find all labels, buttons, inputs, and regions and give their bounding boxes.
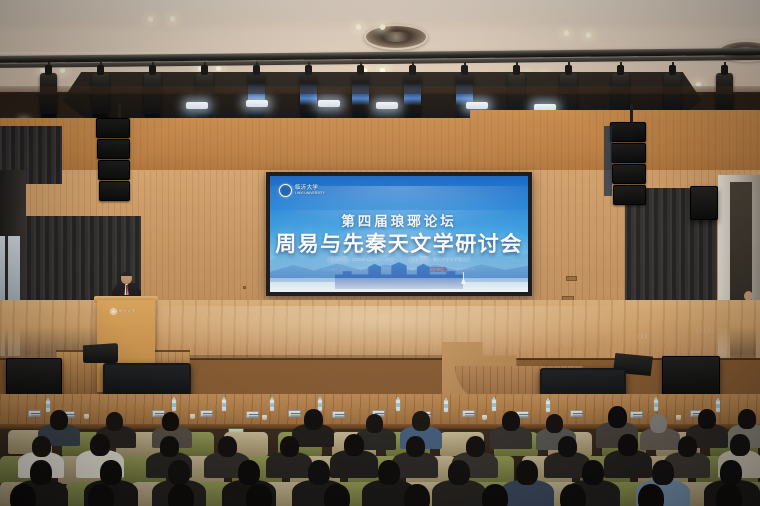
paper-cup	[190, 414, 195, 419]
audience-head	[730, 434, 750, 456]
audience-head	[304, 409, 323, 430]
stage-light-icon	[352, 73, 369, 117]
audience-head	[560, 484, 586, 506]
audience-head	[308, 460, 330, 485]
university-logo-text: 临沂大学 LINYI UNIVERSITY	[295, 185, 325, 195]
line-array-left	[96, 118, 130, 201]
line-array-box	[98, 160, 130, 180]
downlight-icon	[354, 24, 363, 30]
water-bottle	[270, 399, 274, 411]
downlight-icon	[378, 24, 387, 30]
audience-head	[90, 434, 110, 456]
water-bottle	[654, 399, 658, 411]
audience-head	[366, 414, 383, 433]
presenter-head	[121, 272, 132, 284]
name-card	[462, 410, 475, 417]
led-screen-content: 临沂大学 LINYI UNIVERSITY 第四届琅琊论坛 周易与先秦天文学研讨…	[270, 176, 528, 292]
audience-head	[404, 484, 430, 506]
audience-head	[378, 460, 400, 485]
stage-light-icon	[144, 73, 161, 117]
paper-cup	[482, 415, 487, 420]
audience-head	[638, 484, 664, 506]
audience-head	[716, 484, 742, 506]
audience-head	[516, 460, 538, 485]
stage-floor-highlight	[120, 306, 640, 364]
ceiling-vent-icon	[364, 24, 428, 50]
audience-head	[168, 484, 194, 506]
water-bottle	[318, 399, 322, 411]
university-name-en: LINYI UNIVERSITY	[295, 192, 325, 196]
stage-light-icon	[404, 73, 421, 117]
paper-cup	[676, 415, 681, 420]
stage-light-icon	[300, 73, 317, 117]
name-card	[570, 410, 583, 417]
name-card	[630, 411, 643, 418]
audience-head	[30, 460, 52, 485]
downlight-icon	[146, 16, 155, 22]
name-card	[28, 410, 41, 417]
audience-head	[698, 409, 716, 429]
audience-head	[280, 436, 299, 457]
audience-head	[618, 434, 638, 456]
stage-light-icon	[248, 73, 265, 117]
audience-head	[218, 436, 237, 457]
audience-head	[546, 414, 563, 433]
audience-area	[0, 394, 760, 506]
audience-head	[652, 460, 674, 485]
lit-lamp-glow	[466, 102, 488, 109]
vent-hub	[383, 32, 410, 42]
audience-head	[50, 410, 68, 430]
audience-head	[100, 460, 122, 485]
audience-head	[678, 436, 697, 457]
audience-head	[502, 411, 520, 431]
water-bottle	[172, 399, 176, 411]
auditorium-photo: 临沂大学 LINYI UNIVERSITY 第四届琅琊论坛 周易与先秦天文学研讨…	[0, 0, 760, 506]
line-array-box	[99, 181, 130, 201]
stage-light-icon	[92, 73, 109, 117]
podium-emblem: 临沂大学	[110, 308, 136, 315]
lit-lamp-glow	[246, 100, 268, 107]
screen-title-line1: 第四届琅琊论坛	[270, 210, 528, 230]
university-emblem-icon	[279, 184, 292, 197]
water-bottle	[46, 400, 50, 412]
podium-emblem-icon	[110, 308, 117, 315]
audience-head	[246, 484, 272, 506]
audience-head	[168, 460, 190, 485]
audience-head	[344, 434, 364, 456]
wall-marker	[243, 286, 246, 289]
audience-head	[10, 484, 36, 506]
name-card	[200, 410, 213, 417]
line-array-box	[97, 139, 130, 159]
audience-head	[406, 436, 425, 457]
podium-emblem-text: 临沂大学	[119, 309, 136, 314]
water-bottle	[396, 399, 400, 411]
audience-head	[162, 412, 179, 431]
audience-head	[32, 436, 51, 457]
speaker-stack-right-upper	[690, 186, 718, 220]
audience-head	[448, 460, 470, 485]
wall-sign-upper	[566, 276, 577, 281]
paper-cup	[84, 414, 89, 419]
lit-lamp-glow	[318, 100, 340, 107]
downlight-icon	[584, 32, 593, 38]
audience-head	[106, 412, 123, 431]
audience-head	[160, 436, 179, 457]
line-array-box	[611, 143, 646, 163]
water-bottle	[546, 400, 550, 412]
line-array-cable-right	[604, 126, 612, 196]
lit-lamp-glow	[186, 102, 208, 109]
lit-lamp-glow	[376, 102, 398, 109]
water-bottle	[222, 399, 226, 411]
audience-head	[558, 436, 577, 457]
ceiling-edge-shadow	[0, 86, 760, 94]
stage-light-icon	[196, 73, 213, 117]
line-array-box	[612, 164, 646, 184]
downlight-icon	[168, 16, 177, 22]
led-backdrop-screen: 临沂大学 LINYI UNIVERSITY 第四届琅琊论坛 周易与先秦天文学研讨…	[266, 172, 532, 296]
audience-head	[412, 411, 430, 431]
audience-head	[582, 460, 604, 485]
water-bottle	[444, 400, 448, 412]
name-card	[288, 410, 301, 417]
paper-cup	[262, 415, 267, 420]
audience-head	[324, 484, 350, 506]
audience-head	[738, 409, 756, 429]
audience-head	[650, 414, 667, 433]
line-array-box	[610, 122, 646, 142]
name-card	[246, 411, 259, 418]
audience-head	[88, 484, 114, 506]
ceiling-far-section	[0, 0, 760, 20]
audience-head	[482, 484, 508, 506]
audience-head	[466, 436, 485, 457]
audience-head	[608, 406, 627, 428]
downlight-icon	[562, 30, 571, 36]
stage-light-icon	[40, 73, 57, 117]
water-bottle	[716, 400, 720, 412]
water-bottle	[492, 399, 496, 411]
name-card	[332, 411, 345, 418]
line-array-box	[613, 185, 646, 205]
stage-monitor-wedge-left	[83, 343, 118, 363]
line-array-box	[96, 118, 130, 138]
screen-university-logo: 临沂大学 LINYI UNIVERSITY	[279, 184, 325, 197]
screen-water-reflection	[270, 278, 528, 292]
line-array-right	[610, 122, 646, 205]
audience-head	[720, 460, 742, 485]
audience-head	[238, 460, 260, 485]
